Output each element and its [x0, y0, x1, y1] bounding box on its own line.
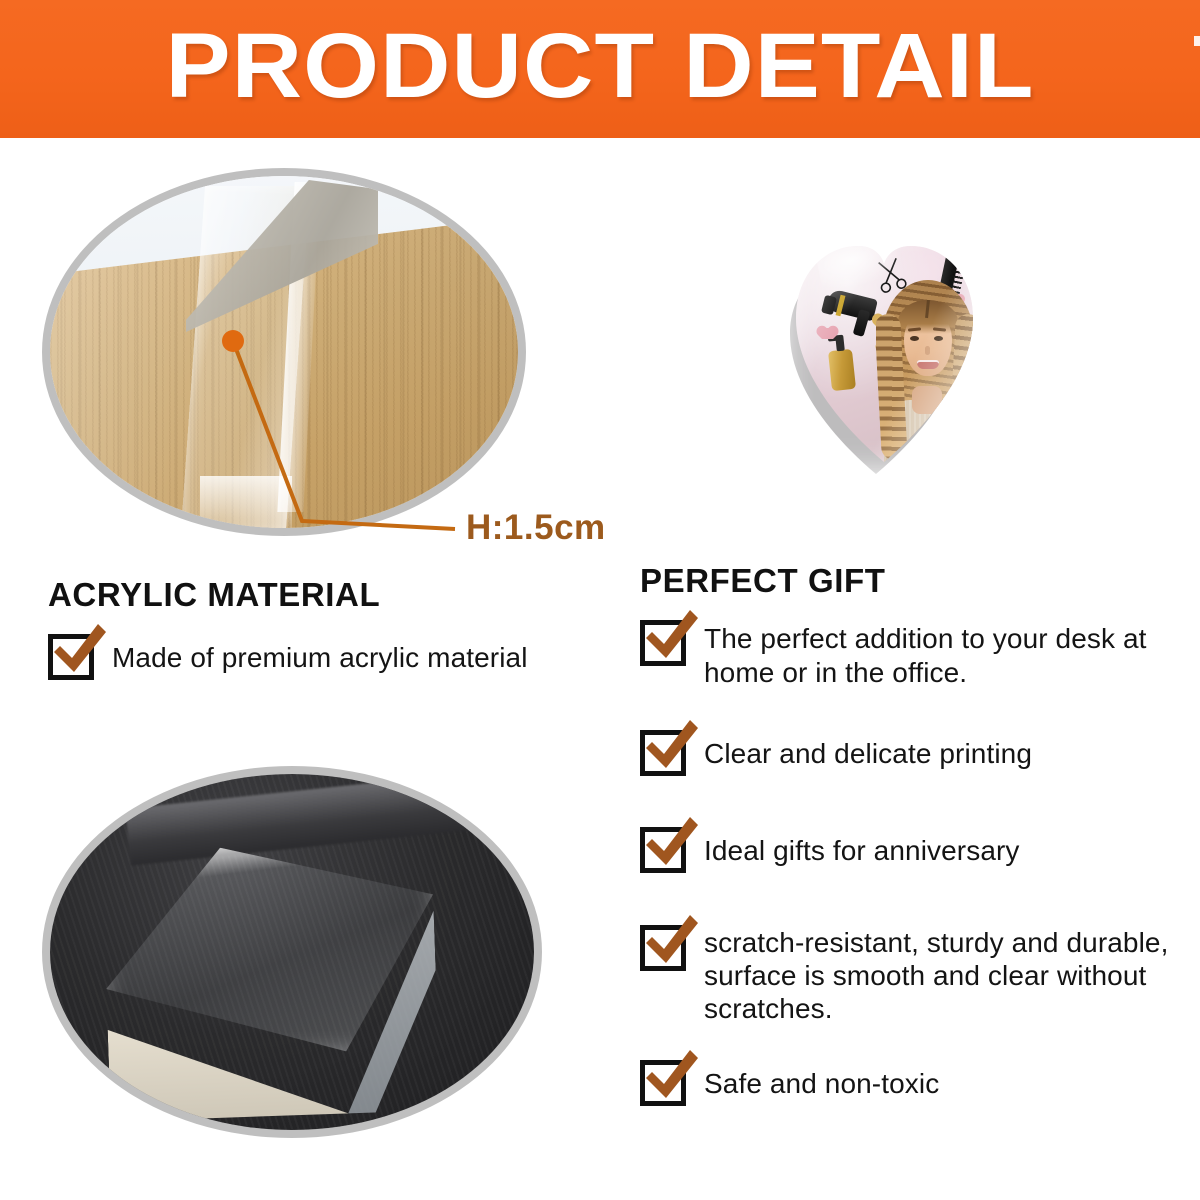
check-mark-glyph	[50, 622, 108, 678]
feature-text: The perfect addition to your desk at hom…	[704, 620, 1170, 690]
check-icon	[48, 634, 94, 680]
check-mark-glyph	[642, 815, 700, 871]
check-icon	[640, 1060, 686, 1106]
feature-text: Safe and non-toxic	[704, 1060, 939, 1101]
height-callout-label: H:1.5cm	[466, 508, 606, 548]
feature-text: Ideal gifts for anniversary	[704, 827, 1020, 868]
check-mark-glyph	[642, 1048, 700, 1104]
section-heading-acrylic-material: ACRYLIC MATERIAL	[48, 576, 380, 614]
check-mark-glyph	[642, 913, 700, 969]
feature-item: The perfect addition to your desk at hom…	[640, 620, 1170, 690]
feature-item: Safe and non-toxic	[640, 1060, 1170, 1106]
check-icon	[640, 925, 686, 971]
check-mark-glyph	[642, 608, 700, 664]
feature-text: Clear and delicate printing	[704, 730, 1032, 771]
feature-item: Made of premium acrylic material	[48, 634, 608, 680]
feature-text: scratch-resistant, sturdy and durable, s…	[704, 925, 1185, 1025]
check-icon	[640, 827, 686, 873]
feature-item: Clear and delicate printing	[640, 730, 1170, 776]
feature-item: Ideal gifts for anniversary	[640, 827, 1170, 873]
check-mark-glyph	[642, 718, 700, 774]
section-heading-perfect-gift: PERFECT GIFT	[640, 562, 886, 600]
check-icon	[640, 730, 686, 776]
feature-item: scratch-resistant, sturdy and durable, s…	[640, 925, 1185, 1025]
callout-dot-icon	[222, 330, 244, 352]
feature-text: Made of premium acrylic material	[112, 634, 528, 675]
check-icon	[640, 620, 686, 666]
